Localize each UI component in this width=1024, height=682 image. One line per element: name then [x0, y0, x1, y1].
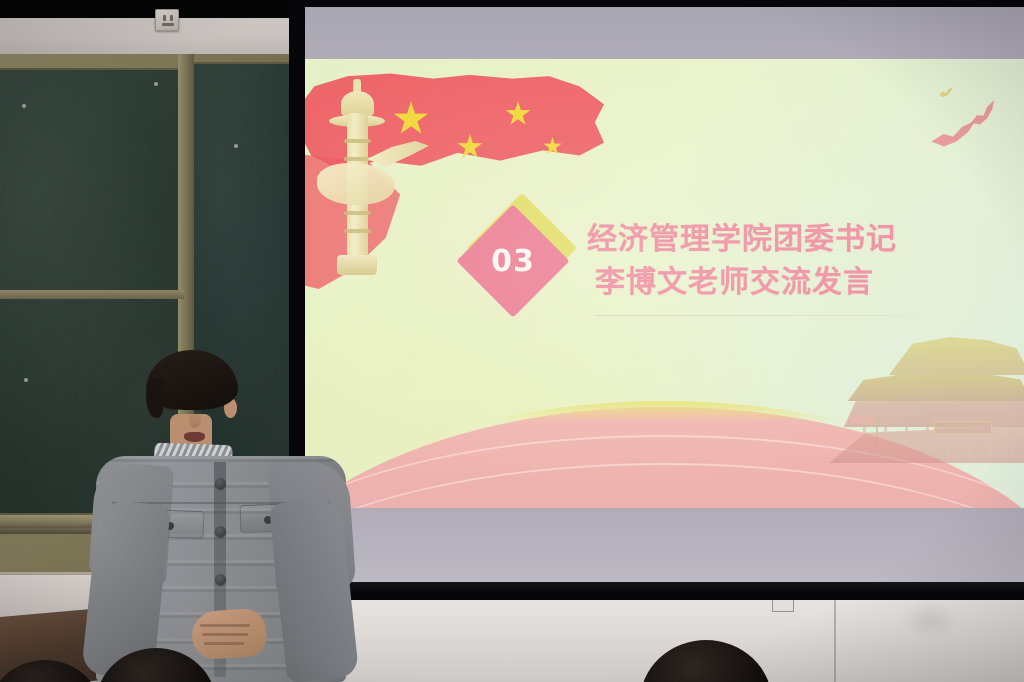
gate-plaque — [934, 421, 992, 434]
column-base — [337, 255, 377, 275]
title-divider-rule — [595, 315, 925, 316]
slide-title-line-1: 经济管理学院团委书记 — [587, 219, 987, 262]
gate-columns — [845, 427, 1020, 457]
hair-sideburn — [146, 378, 164, 418]
mouth — [184, 432, 205, 442]
presentation-slide: 03 经济管理学院团委书记 李博文老师交流发言 — [305, 59, 1024, 511]
speaker-figure — [96, 352, 346, 682]
bird-icon — [930, 121, 978, 152]
wall-seam — [834, 592, 836, 682]
gate-lower-roof — [836, 371, 1024, 401]
huabiao-column-icon — [329, 79, 385, 274]
finger-line — [204, 642, 244, 645]
slide-title-line-2: 李博文老师交流发言 — [587, 262, 987, 305]
outlet-slot — [162, 23, 174, 26]
column-ring — [344, 139, 371, 143]
section-number-badge: 03 — [465, 209, 575, 329]
chalk-speck — [154, 82, 158, 86]
wall-outlet-icon — [155, 9, 179, 31]
wall-smudge — [900, 600, 960, 640]
blackboard-mid-rail — [0, 290, 184, 299]
tiananmen-gate-icon — [825, 331, 1024, 461]
finger-line — [200, 624, 250, 627]
wall-plate — [772, 598, 794, 612]
chalk-speck — [22, 104, 26, 108]
column-ring — [344, 229, 371, 233]
finger-line — [202, 633, 248, 636]
projection-screen: 03 经济管理学院团委书记 李博文老师交流发言 — [305, 7, 1024, 582]
classroom-scene: 03 经济管理学院团委书记 李博文老师交流发言 — [0, 0, 1024, 682]
chalk-speck — [234, 144, 238, 148]
nose — [189, 408, 201, 428]
gate-upper-roof — [862, 337, 1024, 375]
chalk-speck — [24, 378, 28, 382]
bird-icon — [939, 87, 953, 99]
gate-flagpole — [876, 417, 878, 443]
column-cloud-ornament — [317, 163, 395, 205]
section-number-text: 03 — [473, 221, 553, 301]
slide-title-block: 经济管理学院团委书记 李博文老师交流发言 — [587, 219, 987, 316]
jacket-button — [215, 478, 226, 489]
letterbox-top — [305, 7, 1024, 63]
letterbox-bottom — [305, 508, 1024, 582]
column-ring — [344, 211, 371, 215]
jacket-button — [215, 574, 226, 585]
column-ring — [344, 157, 371, 161]
jacket-button — [215, 526, 226, 537]
